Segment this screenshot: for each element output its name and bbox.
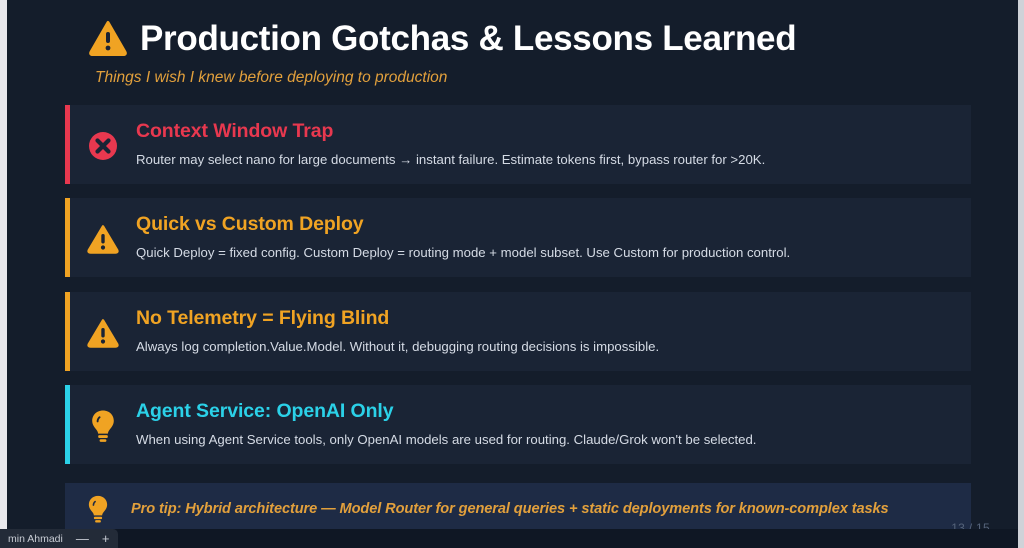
page-title: Production Gotchas & Lessons Learned: [140, 21, 796, 56]
error-circle-x-icon: [70, 105, 136, 184]
warning-triangle-icon: [70, 292, 136, 371]
pro-tip-bar: Pro tip: Hybrid architecture — Model Rou…: [65, 483, 971, 534]
browser-tab-title: min Ahmadi: [8, 533, 63, 545]
card-body: Context Window Trap Router may select na…: [136, 105, 971, 184]
page-title-row: Production Gotchas & Lessons Learned: [89, 14, 989, 62]
new-tab-icon[interactable]: +: [102, 532, 110, 545]
card-heading: Context Window Trap: [136, 121, 955, 142]
page-subtitle: Things I wish I knew before deploying to…: [95, 69, 989, 87]
lightbulb-icon: [65, 494, 131, 524]
card-description: Router may select nano for large documen…: [136, 152, 955, 169]
pro-tip-text: Pro tip: Hybrid architecture — Model Rou…: [131, 501, 889, 517]
slide-canvas: Production Gotchas & Lessons Learned Thi…: [7, 0, 1018, 541]
warning-triangle-icon: [70, 198, 136, 277]
card-description: When using Agent Service tools, only Ope…: [136, 432, 955, 449]
minimize-icon[interactable]: —: [76, 532, 89, 545]
card-body: No Telemetry = Flying Blind Always log c…: [136, 292, 971, 371]
gotcha-card[interactable]: Context Window Trap Router may select na…: [65, 105, 971, 184]
card-description: Always log completion.Value.Model. Witho…: [136, 339, 955, 356]
window-right-border: [1018, 0, 1024, 548]
card-heading: No Telemetry = Flying Blind: [136, 308, 955, 329]
gotcha-card[interactable]: Quick vs Custom Deploy Quick Deploy = fi…: [65, 198, 971, 277]
window-left-border: [0, 0, 7, 548]
browser-window: Production Gotchas & Lessons Learned Thi…: [0, 0, 1024, 548]
gotcha-card[interactable]: No Telemetry = Flying Blind Always log c…: [65, 292, 971, 371]
lightbulb-icon: [70, 385, 136, 464]
card-heading: Quick vs Custom Deploy: [136, 214, 955, 235]
slide-header: Production Gotchas & Lessons Learned Thi…: [89, 14, 989, 87]
card-body: Agent Service: OpenAI Only When using Ag…: [136, 385, 971, 464]
gotcha-card[interactable]: Agent Service: OpenAI Only When using Ag…: [65, 385, 971, 464]
card-heading: Agent Service: OpenAI Only: [136, 401, 955, 422]
browser-tab[interactable]: min Ahmadi — +: [0, 529, 118, 548]
warning-triangle-icon: [89, 20, 127, 56]
browser-tabstrip: min Ahmadi — +: [0, 529, 1024, 548]
card-description: Quick Deploy = fixed config. Custom Depl…: [136, 245, 955, 262]
card-body: Quick vs Custom Deploy Quick Deploy = fi…: [136, 198, 971, 277]
